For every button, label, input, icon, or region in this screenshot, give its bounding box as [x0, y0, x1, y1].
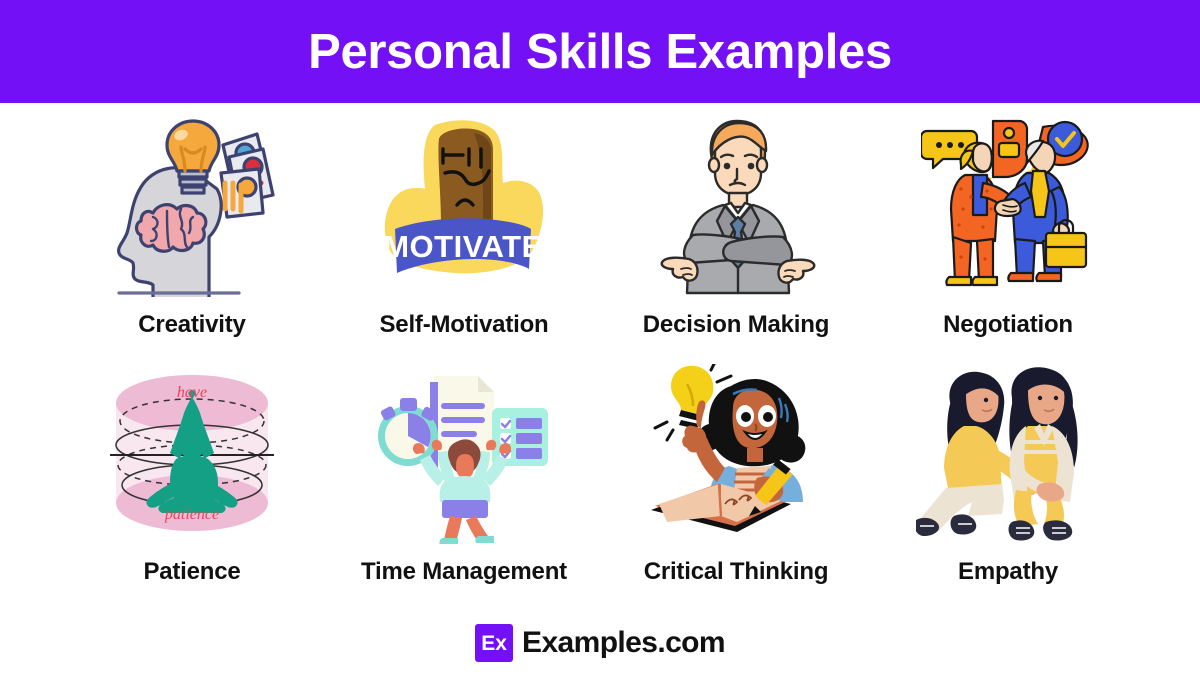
examples-logo-text: Examples.com: [522, 626, 725, 660]
skill-label: Empathy: [958, 558, 1058, 586]
page-title: Personal Skills Examples: [308, 24, 892, 80]
footer-branding[interactable]: Ex Examples.com: [0, 611, 1200, 675]
critical-thinking-art: [600, 364, 872, 544]
skill-label: Patience: [143, 558, 240, 586]
motivate-sticker-text: MOTIVATE: [383, 229, 543, 264]
skill-card-creativity[interactable]: Creativity: [56, 117, 328, 364]
creativity-art: [56, 117, 328, 297]
multitasking-person-stopwatch-checklist-icon: [372, 364, 557, 544]
meditating-figure-cylinder-icon: have patience: [110, 369, 275, 539]
skill-card-patience[interactable]: have patience Patience: [56, 364, 328, 611]
skill-label: Time Management: [361, 558, 567, 586]
self-motivation-art: MOTIVATE: [328, 117, 600, 297]
examples-logo-mark: Ex: [475, 624, 513, 662]
raised-fist-motivate-sticker-icon: MOTIVATE: [379, 117, 549, 297]
page-header: Personal Skills Examples: [0, 0, 1200, 103]
skill-card-empathy[interactable]: Empathy: [872, 364, 1144, 611]
skills-grid: Creativity: [0, 103, 1200, 611]
decision-making-art: [600, 117, 872, 297]
skill-card-decision-making[interactable]: Decision Making: [600, 117, 872, 364]
skill-label: Creativity: [138, 311, 245, 339]
girl-idea-lightbulb-book-icon: [641, 364, 831, 544]
negotiation-art: [872, 117, 1144, 297]
skill-card-self-motivation[interactable]: MOTIVATE Self-Motivation: [328, 117, 600, 364]
time-management-art: [328, 364, 600, 544]
head-brain-lightbulb-icon: [105, 117, 280, 297]
empathy-art: [872, 364, 1144, 544]
businessman-arms-crossed-pointing-icon: [649, 117, 824, 297]
two-women-comforting-icon: [916, 364, 1101, 544]
skill-label: Self-Motivation: [380, 311, 549, 339]
two-people-handshake-icon: [921, 117, 1096, 297]
skill-label: Critical Thinking: [644, 558, 829, 586]
skill-label: Negotiation: [943, 311, 1073, 339]
skill-card-time-management[interactable]: Time Management: [328, 364, 600, 611]
patience-top-text: have: [176, 384, 206, 401]
skill-card-negotiation[interactable]: Negotiation: [872, 117, 1144, 364]
skill-card-critical-thinking[interactable]: Critical Thinking: [600, 364, 872, 611]
patience-bottom-text: patience: [163, 506, 218, 523]
skill-label: Decision Making: [643, 311, 829, 339]
patience-art: have patience: [56, 364, 328, 544]
infographic-page: Personal Skills Examples: [0, 0, 1200, 675]
